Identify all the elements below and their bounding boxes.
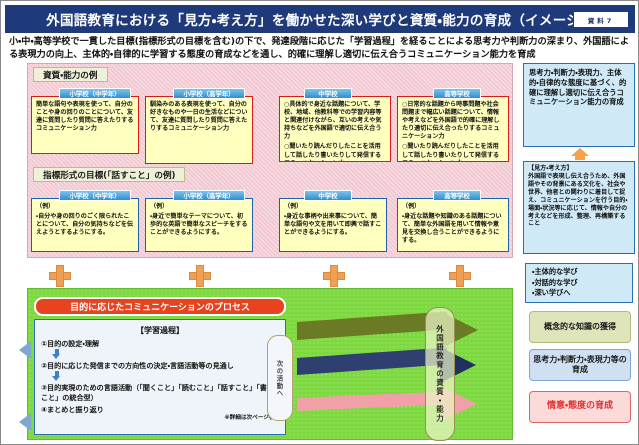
down-arrow-icon-1	[53, 349, 60, 360]
header-lead-text: 小・中・高等学校で一貫した目標(指標形式の目標を含む)の下で、発達段階に応じた「…	[9, 35, 633, 61]
competency-card-elem-high: 馴染みのある表現を使って、自分の好きなものや一日の生活などについて、友達に質問し…	[145, 96, 253, 164]
manabi-item-2: ・対話的な学び	[532, 278, 626, 289]
stage-tag-elem-high-competency: 小学校（高学年）	[173, 88, 245, 99]
page-title: 外国語教育における「見方・考え方」を働かせた深い学びと資質・能力の育成（イメージ…	[46, 9, 594, 29]
down-arrow-icon-2	[53, 371, 60, 382]
competency-card-body-2: ○聞いたり読んだりしたことを活用して話したり書いたりして発信するコミュニケーショ…	[284, 143, 386, 162]
view-perspective-body: 外国語で表現し伝え合うため、外国語やその背景にある文化を、社会や世界、他者との関…	[528, 173, 627, 228]
capability-label: 外国語教育の資質・能力	[435, 325, 446, 423]
indicator-card-body: ・身近な話題や知識のある話題について、簡単な外国語を用いて情報や意見を交換し合う…	[402, 213, 504, 245]
indicator-card-jhs: （例） ・身近な事柄や出来事について、簡単な語句や文を用いて即興で話すことができ…	[279, 198, 387, 252]
competency-card-body: 簡単な語句や表現を使って、自分のことや身の回りのことについて、友達に質問したり質…	[36, 101, 134, 133]
stage-tag-jhs-indicator: 中学校	[304, 190, 352, 201]
view-perspective-title: 【見方・考え方】	[528, 165, 630, 173]
indicator-card-head: （例）	[36, 203, 134, 211]
stage-tag-hs-competency: 高等学校	[433, 88, 481, 99]
competency-card-elem-mid: 簡単な語句や表現を使って、自分のことや身の回りのことについて、友達に質問したり質…	[31, 96, 139, 154]
header-bar: 外国語教育における「見方・考え方」を働かせた深い学びと資質・能力の育成（イメージ…	[5, 5, 635, 33]
outcome-box-thinking: 思考力・判断力・表現力等の育成	[529, 349, 631, 381]
learning-process-box: 【学習過程】 ①目的の設定・理解 ②目的に応じた発信までの方向性の決定・言語活動…	[34, 319, 286, 435]
process-step-3: ③目的実現のための言語活動（「聞くこと」「読むこと」「話すこと」「書くこと」の統…	[41, 383, 279, 401]
outcome-box-knowledge: 概念的な知識の獲得	[529, 311, 631, 343]
outcome-arrow-thinking	[297, 349, 487, 385]
stage-tag-elem-mid-indicator: 小学校（中学年）	[59, 190, 131, 201]
plus-icon-3	[323, 265, 345, 287]
next-activity-label: 次の活動へ	[276, 360, 285, 397]
competency-card-hs: ○日常的な話題から時事問題や社会問題まで幅広い話題について、情報や考えなどを外国…	[397, 96, 509, 162]
plus-icon-2	[189, 265, 211, 287]
learning-process-heading: 【学習過程】	[41, 325, 279, 336]
competency-card-jhs: ○具体的で身近な話題について、学校、地域、他教科等での学習内容等と関連付けながら…	[279, 96, 391, 162]
manabi-item-3: ・深い学びへ	[532, 288, 626, 299]
diagram-root: 外国語教育における「見方・考え方」を働かせた深い学びと資質・能力の育成（イメージ…	[0, 0, 639, 445]
next-activity-pill: 次の活動へ	[267, 335, 293, 421]
process-step-2: ②目的に応じた発信までの方向性の決定・言語活動等の見通し	[41, 361, 279, 370]
stage-tag-elem-high-indicator: 小学校（高学年）	[173, 190, 245, 201]
competency-card-body-1: ○日常的な話題から時事問題や社会問題まで幅広い話題について、情報や考えなどを外国…	[402, 101, 504, 141]
manabi-item-1: ・主体的な学び	[532, 267, 626, 278]
manabi-box: ・主体的な学び ・対話的な学び ・深い学びへ	[525, 263, 633, 303]
outcome-arrow-attitude	[297, 391, 487, 425]
process-step-1: ①目的の設定・理解	[41, 339, 279, 348]
indicator-card-head: （例）	[284, 203, 382, 211]
competency-card-body-1: ○具体的で身近な話題について、学校、地域、他教科等での学習内容等と関連付けながら…	[284, 101, 386, 141]
indicator-card-elem-mid: （例） ・自分や身の回りのごく限られたことについて、自分の気持ちなどを伝えようと…	[31, 198, 139, 252]
capability-pill: 外国語教育の資質・能力	[425, 307, 455, 441]
communication-goal-text: 思考力・判断力・表現力、主体的・自律的な態度に基づく、的確に理解し適切に伝え合う…	[529, 68, 626, 106]
section-label-competency: 資質・能力の例	[33, 67, 108, 82]
outcome-box-attitude: 情意・態度の育成	[529, 391, 631, 423]
stage-tag-jhs-competency: 中学校	[304, 88, 352, 99]
loop-arrow-icon-top	[19, 341, 31, 359]
section-label-indicator: 指標形式の目標(「話すこと」の例)	[33, 167, 185, 182]
loop-arrow-icon-bottom	[19, 413, 31, 431]
competency-card-body-2: ○聞いたり読んだりしたことを活用して話したり書いたりして発信するコミュニケーショ…	[402, 143, 504, 162]
stage-tag-hs-indicator: 高等学校	[433, 190, 481, 201]
plus-icon-4	[449, 265, 471, 287]
communication-goal-box: 思考力・判断力・表現力、主体的・自律的な態度に基づく、的確に理解し適切に伝え合う…	[523, 63, 635, 147]
indicator-card-body: ・身近な事柄や出来事について、簡単な語句や文を用いて即興で話すことができるように…	[284, 213, 382, 237]
stage-tag-elem-mid-competency: 小学校（中学年）	[59, 88, 131, 99]
competency-card-body: 馴染みのある表現を使って、自分の好きなものや一日の生活などについて、友達に質問し…	[150, 101, 248, 133]
view-perspective-box: 【見方・考え方】 外国語で表現し伝え合うため、外国語やその背景にある文化を、社会…	[523, 161, 635, 254]
up-arrow-stem	[575, 155, 585, 160]
process-title: 目的に応じたコミュニケーションのプロセス	[34, 297, 286, 316]
indicator-card-elem-high: （例） ・身近で簡単なテーマについて、初歩的な英語で簡単なスピーチをすることがで…	[145, 198, 253, 252]
document-badge: 資料7	[573, 11, 629, 28]
indicator-card-body: ・自分や身の回りのごく限られたことについて、自分の気持ちなどを伝えようとするよう…	[36, 213, 134, 237]
plus-icon-1	[49, 265, 71, 287]
indicator-card-head: （例）	[402, 203, 504, 211]
indicator-card-body: ・身近で簡単なテーマについて、初歩的な英語で簡単なスピーチをすることができるよう…	[150, 213, 248, 237]
indicator-card-head: （例）	[150, 203, 248, 211]
outcome-arrow-knowledge	[297, 313, 487, 351]
indicator-card-hs: （例） ・身近な話題や知識のある話題について、簡単な外国語を用いて情報や意見を交…	[397, 198, 509, 252]
